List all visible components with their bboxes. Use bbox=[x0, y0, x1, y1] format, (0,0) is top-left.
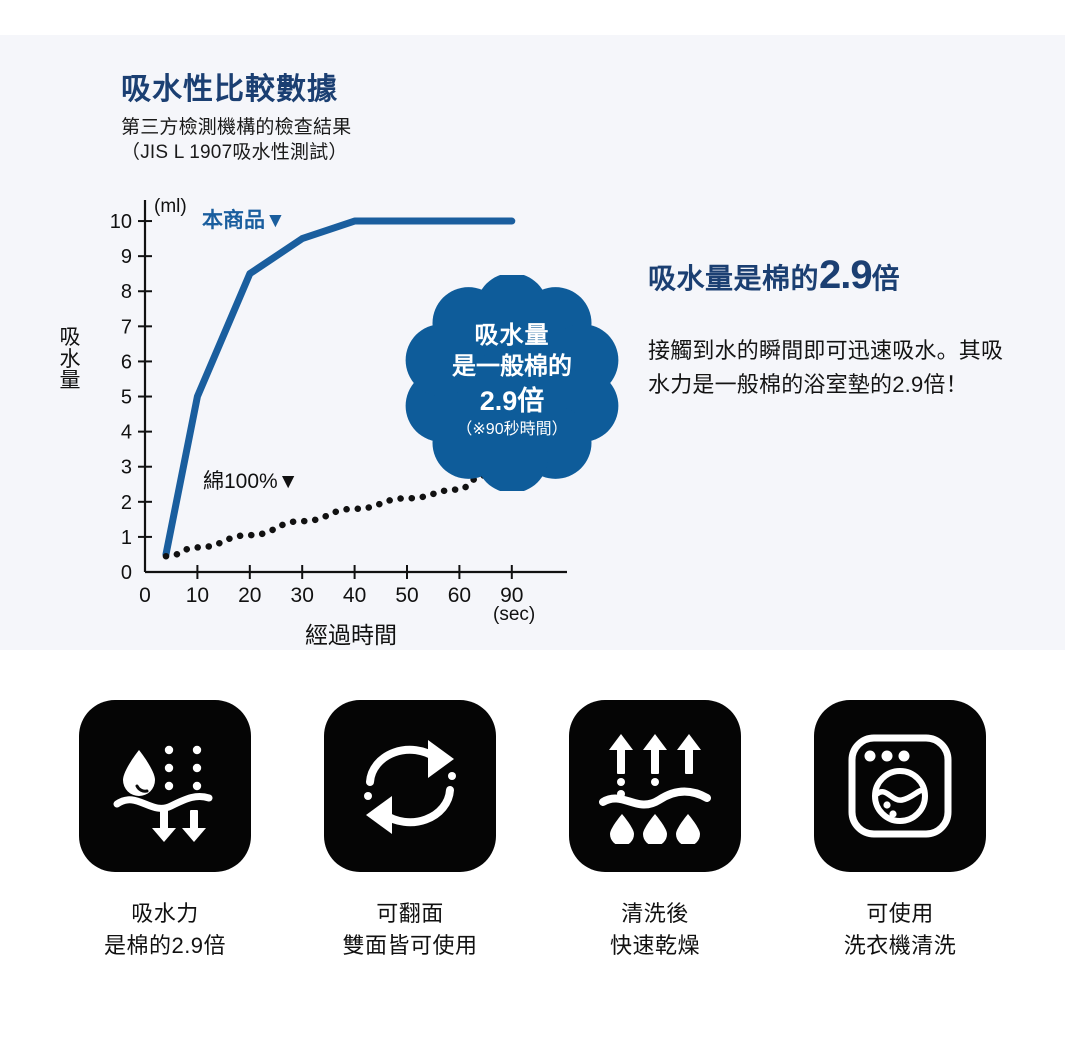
absorbency-icon bbox=[79, 700, 251, 872]
badge-line-2: 是一般棉的 bbox=[452, 352, 572, 383]
washing-machine-icon bbox=[814, 700, 986, 872]
badge-text-block: 吸水量 是一般棉的 2.9倍 （※90秒時間） bbox=[405, 275, 619, 491]
feature-label-line-1: 吸水力 bbox=[104, 898, 226, 930]
svg-text:10: 10 bbox=[110, 211, 132, 233]
svg-text:5: 5 bbox=[121, 387, 132, 409]
feature-label-line-1: 可翻面 bbox=[342, 898, 477, 930]
feature-label-line-1: 清洗後 bbox=[610, 898, 700, 930]
right-headline-suffix: 倍 bbox=[872, 263, 901, 294]
svg-text:3: 3 bbox=[121, 457, 132, 479]
svg-text:6: 6 bbox=[121, 351, 132, 373]
feature-label-quick-dry: 清洗後 快速乾燥 bbox=[610, 898, 700, 962]
svg-text:1: 1 bbox=[121, 527, 132, 549]
reversible-icon bbox=[324, 700, 496, 872]
svg-text:20: 20 bbox=[238, 584, 261, 607]
feature-label-line-2: 是棉的2.9倍 bbox=[104, 930, 226, 962]
y-unit-label: (ml) bbox=[154, 196, 187, 217]
svg-text:60: 60 bbox=[448, 584, 471, 607]
quick-dry-icon-glyph bbox=[597, 728, 713, 844]
right-body-text: 接觸到水的瞬間即可迅速吸水。其吸水力是一般棉的浴室墊的2.9倍！ bbox=[648, 334, 1008, 402]
feature-icon-row: 吸水力 是棉的2.9倍 可翻面 雙面皆可使用 bbox=[0, 700, 1065, 1030]
series-label-product: 本商品▼ bbox=[202, 208, 286, 232]
feature-item-quick-dry: 清洗後 快速乾燥 bbox=[555, 700, 755, 1030]
svg-text:0: 0 bbox=[121, 562, 132, 584]
subtitle-line-2: （JIS L 1907吸水性測試） bbox=[121, 140, 351, 166]
x-axis-title: 經過時間 bbox=[305, 622, 397, 648]
right-headline: 吸水量是棉的2.9倍 bbox=[648, 253, 1008, 298]
svg-text:30: 30 bbox=[291, 584, 314, 607]
series-label-cotton: 綿100%▼ bbox=[203, 470, 299, 493]
feature-item-reversible: 可翻面 雙面皆可使用 bbox=[310, 700, 510, 1030]
page-root: 吸水性比較數據 第三方檢測機構的檢查結果 （JIS L 1907吸水性測試） 吸… bbox=[0, 0, 1065, 1059]
feature-label-line-1: 可使用 bbox=[844, 898, 957, 930]
feature-item-washing-machine: 可使用 洗衣機清洗 bbox=[800, 700, 1000, 1030]
svg-text:8: 8 bbox=[121, 281, 132, 303]
badge-line-4: （※90秒時間） bbox=[456, 420, 567, 441]
feature-label-absorbency: 吸水力 是棉的2.9倍 bbox=[104, 898, 226, 962]
right-text-column: 吸水量是棉的2.9倍 接觸到水的瞬間即可迅速吸水。其吸水力是一般棉的浴室墊的2.… bbox=[648, 253, 1008, 402]
washing-machine-icon-glyph bbox=[844, 730, 956, 842]
absorbency-comparison-panel: 吸水性比較數據 第三方檢測機構的檢查結果 （JIS L 1907吸水性測試） 吸… bbox=[0, 35, 1065, 650]
feature-label-line-2: 快速乾燥 bbox=[610, 930, 700, 962]
page-title: 吸水性比較數據 bbox=[121, 73, 351, 108]
feature-item-absorbency: 吸水力 是棉的2.9倍 bbox=[65, 700, 265, 1030]
svg-text:0: 0 bbox=[139, 584, 151, 607]
feature-label-washing-machine: 可使用 洗衣機清洗 bbox=[844, 898, 957, 962]
svg-text:4: 4 bbox=[121, 422, 132, 444]
badge-line-3: 2.9倍 bbox=[480, 383, 545, 419]
x-unit-label: (sec) bbox=[493, 604, 535, 625]
badge-line-1: 吸水量 bbox=[475, 321, 550, 352]
quick-dry-icon bbox=[569, 700, 741, 872]
feature-label-reversible: 可翻面 雙面皆可使用 bbox=[342, 898, 477, 962]
heading-block: 吸水性比較數據 第三方檢測機構的檢查結果 （JIS L 1907吸水性測試） bbox=[121, 73, 351, 166]
reversible-icon-glyph bbox=[354, 730, 466, 842]
svg-text:40: 40 bbox=[343, 584, 366, 607]
feature-label-line-2: 雙面皆可使用 bbox=[342, 930, 477, 962]
subtitle-line-1: 第三方檢測機構的檢查結果 bbox=[121, 115, 351, 141]
svg-text:50: 50 bbox=[395, 584, 418, 607]
svg-text:2: 2 bbox=[121, 492, 132, 514]
right-headline-prefix: 吸水量是棉的 bbox=[648, 263, 819, 294]
svg-text:7: 7 bbox=[121, 316, 132, 338]
svg-text:9: 9 bbox=[121, 246, 132, 268]
feature-label-line-2: 洗衣機清洗 bbox=[844, 930, 957, 962]
svg-text:10: 10 bbox=[186, 584, 209, 607]
absorbency-badge: 吸水量 是一般棉的 2.9倍 （※90秒時間） bbox=[405, 275, 619, 491]
absorbency-icon-glyph bbox=[107, 728, 223, 844]
right-headline-number: 2.9 bbox=[819, 253, 872, 297]
